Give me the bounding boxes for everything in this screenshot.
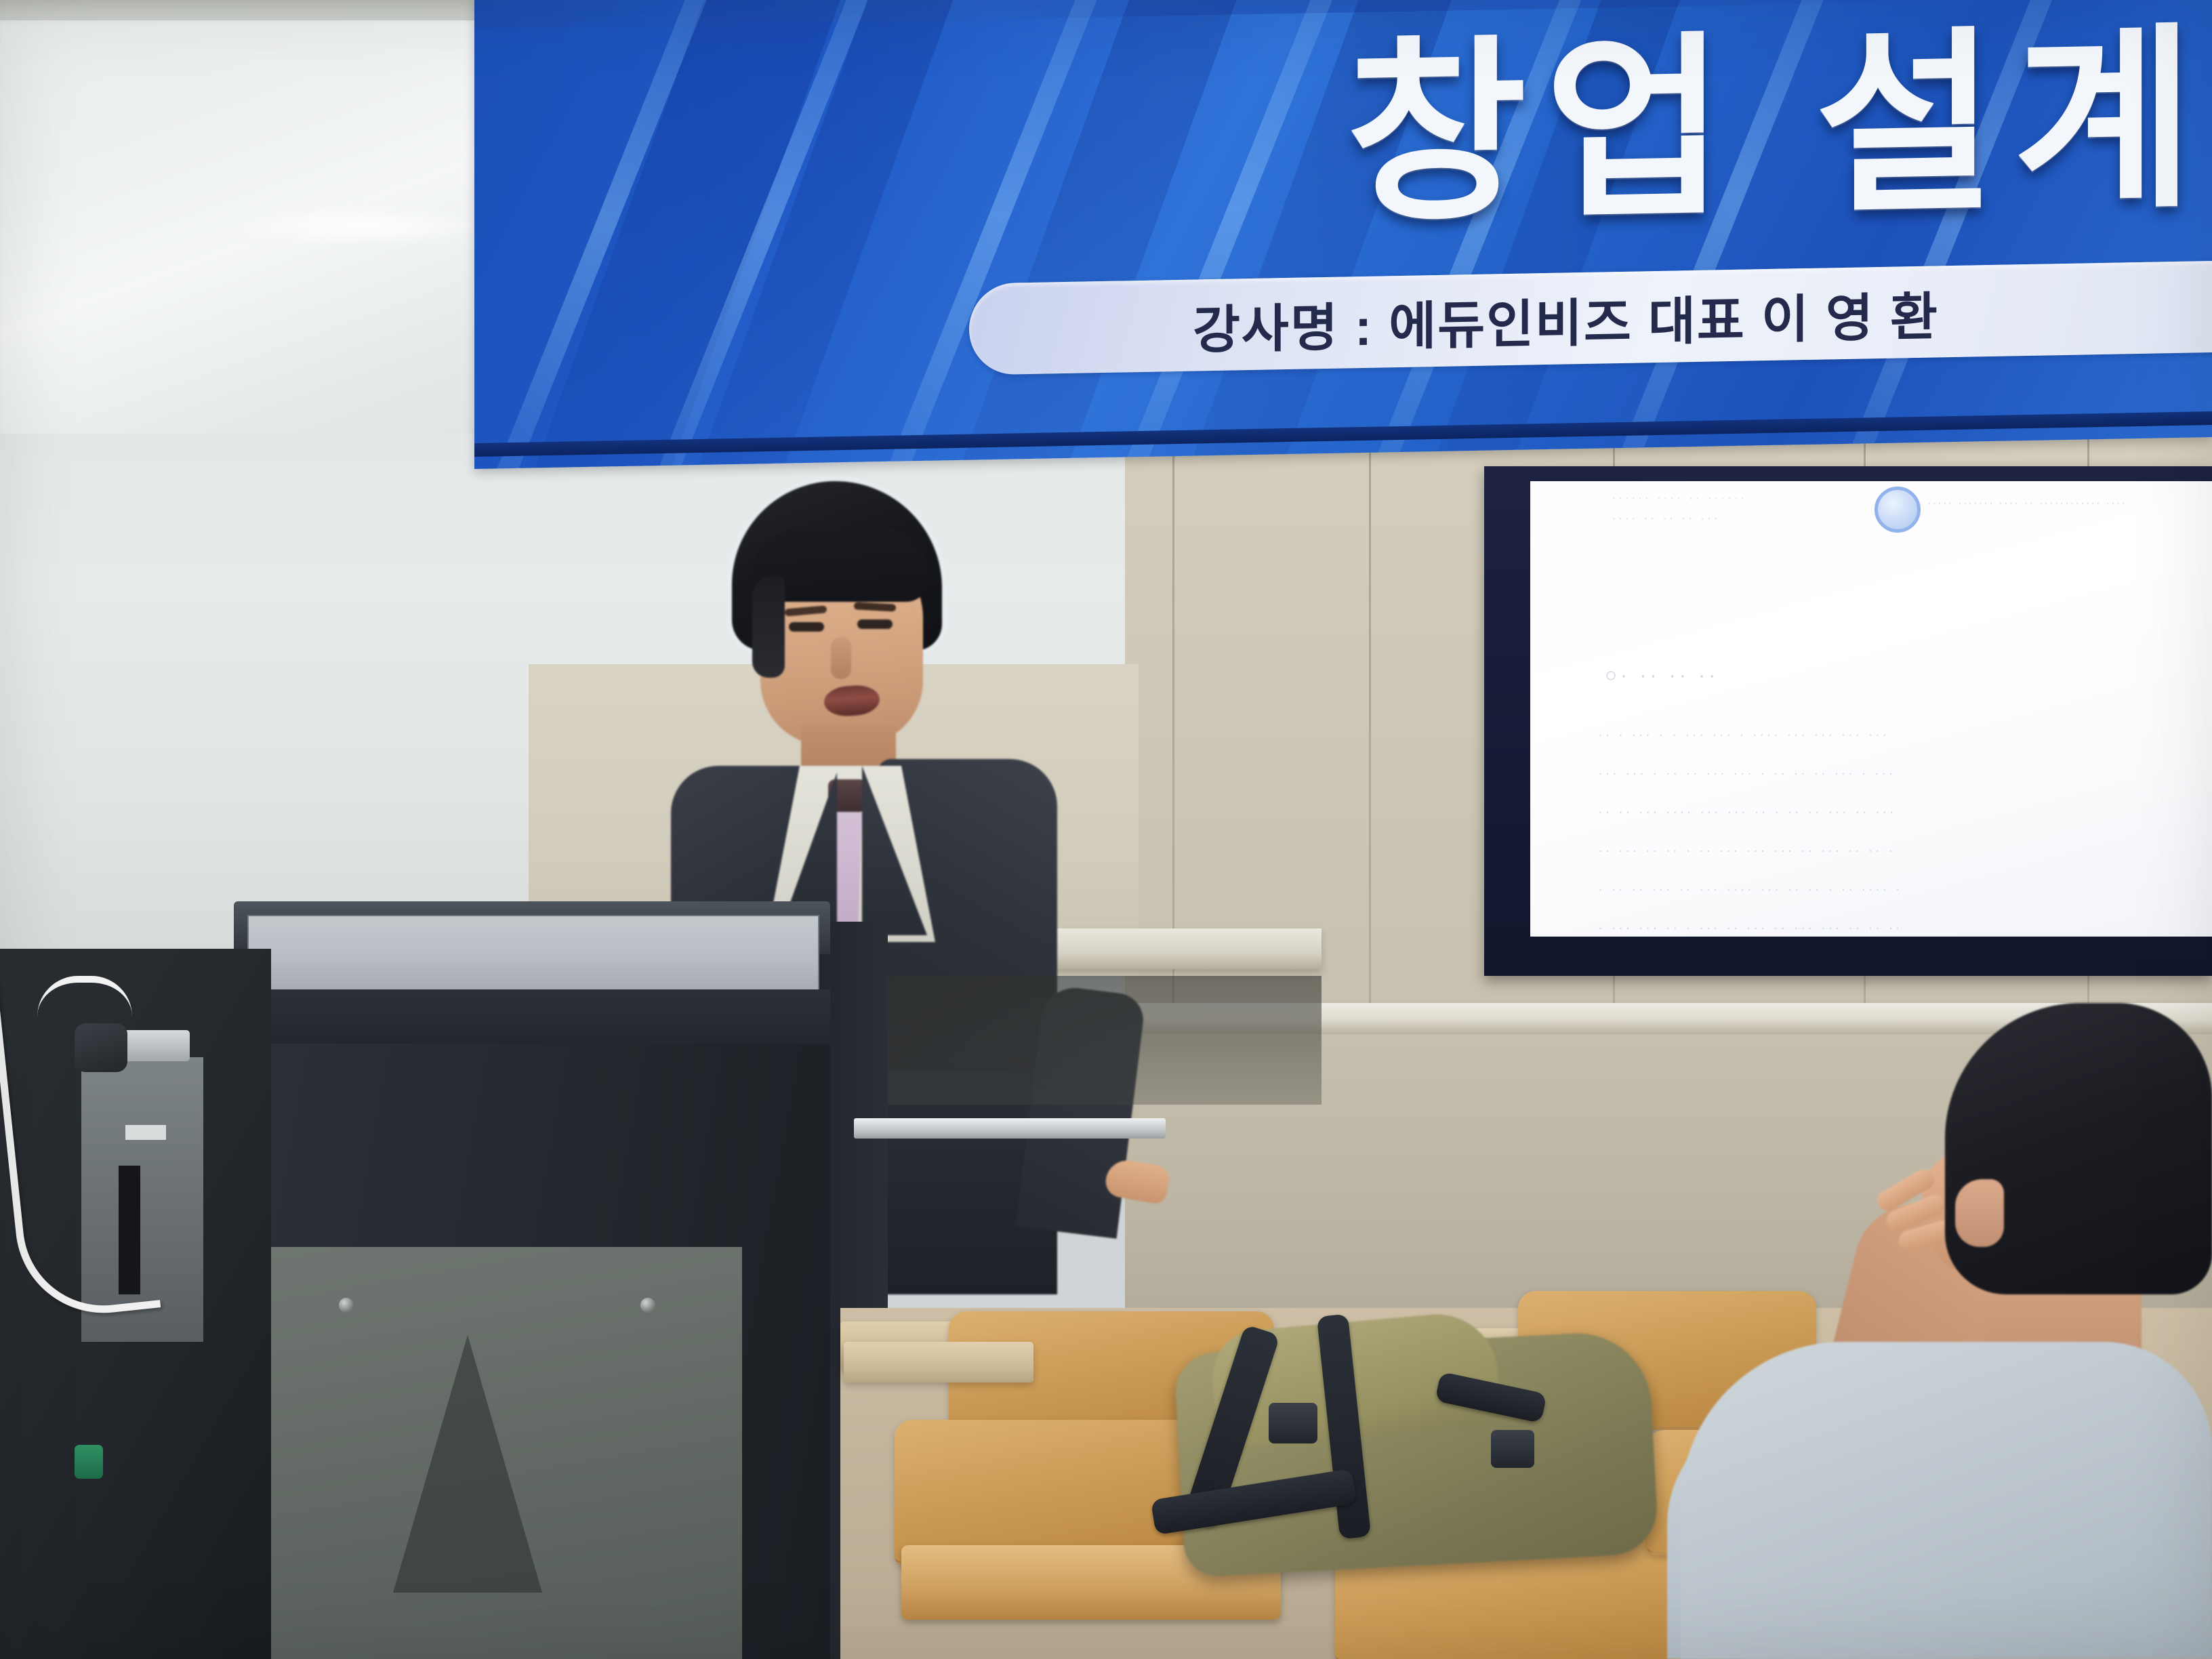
event-banner: 산학협력 선도대학(LINC) 육성사업 창업 설계 강사명 : 에듀인비즈 대… [474, 0, 2212, 469]
student-torso [1681, 1342, 2212, 1659]
podium-neck [234, 989, 830, 1045]
banner-subtitle-text: 강사명 : 에듀인비즈 대표 이 영 환 [1193, 274, 1939, 363]
podium-slide-rail [854, 1118, 1166, 1139]
podium-screw-right [640, 1298, 655, 1313]
student-ear [1955, 1179, 2004, 1247]
student-head [1945, 1003, 2212, 1294]
desk-surface-left [844, 1342, 1033, 1382]
speaker-sideburn [752, 576, 785, 678]
slide-body-text: ·· · ··· · · ··· ··· · ···· ··· ··· ··· … [1598, 715, 2208, 947]
slide-logo-side-text: ····· ······· ···· ·· ············ ···· [1927, 496, 2198, 512]
slide-logo-icon [1875, 487, 1921, 533]
podium-screw-left [339, 1298, 354, 1313]
whiteboard [0, 20, 515, 488]
banner-main-title: 창업 설계 [495, 0, 2212, 251]
small-green-object [75, 1445, 103, 1479]
podium-front-panel [247, 915, 819, 994]
podium-shadow-wedge [393, 1335, 542, 1593]
projection-screen-frame: ······ ···· ·· ······ ···· ·· ·· ·· ··· … [1484, 466, 2212, 976]
projection-screen-surface: ······ ···· ·· ······ ···· ·· ·· ·· ··· … [1530, 481, 2212, 937]
backpack-buckle-2 [1491, 1430, 1534, 1468]
banner-subtitle-pill: 강사명 : 에듀인비즈 대표 이 영 환 [969, 261, 2212, 375]
slide-section-heading: ○· ·· ·· ·· [1605, 664, 1944, 687]
whiteboard-glare [224, 207, 508, 246]
speaker-eye-left [789, 622, 824, 632]
speaker-nose [831, 637, 851, 679]
speaker-eye-right [857, 619, 893, 629]
backpack-buckle-1 [1269, 1403, 1317, 1443]
lecture-hall-scene: 산학협력 선도대학(LINC) 육성사업 창업 설계 강사명 : 에듀인비즈 대… [0, 0, 2212, 1659]
